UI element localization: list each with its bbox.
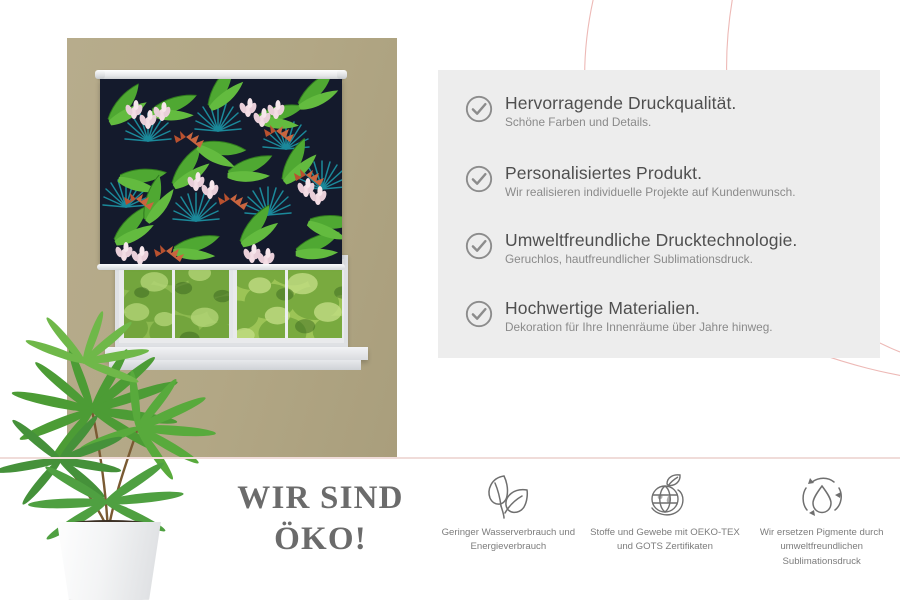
eco-headline-line1: WIR SIND <box>218 478 423 519</box>
two-leaves-icon <box>480 470 536 522</box>
eco-badge: Geringer Wasserverbrauch und Energieverb… <box>430 470 587 590</box>
eco-badges: Geringer Wasserverbrauch und Energieverb… <box>430 470 900 590</box>
check-circle-icon <box>464 299 494 329</box>
feature-subtitle: Wir realisieren individuelle Projekte au… <box>505 186 796 200</box>
blind-rail-cap-left <box>95 70 105 79</box>
globe-leaf-icon <box>637 470 693 522</box>
feature-title: Hervorragende Druckqualität. <box>505 94 736 114</box>
feature-subtitle: Dekoration für Ihre Innenräume über Jahr… <box>505 321 773 335</box>
blind-rail-cap-right <box>337 70 347 79</box>
check-circle-icon <box>464 231 494 261</box>
feature-subtitle: Schöne Farben und Details. <box>505 116 736 130</box>
feature-subtitle: Geruchlos, hautfreundlicher Sublimations… <box>505 253 797 267</box>
feature-title: Umweltfreundliche Drucktechnologie. <box>505 231 797 251</box>
plant-pot <box>50 522 168 600</box>
eco-headline-line2: ÖKO! <box>218 519 423 560</box>
feature-item: Hochwertige Materialien. Dekoration für … <box>464 298 773 334</box>
features-panel: Hervorragende Druckqualität. Schöne Farb… <box>438 70 880 358</box>
feature-item: Umweltfreundliche Drucktechnologie. Geru… <box>464 230 797 266</box>
eco-badge: Stoffe und Gewebe mit OEKO-TEX und GOTS … <box>587 470 744 590</box>
window-divider-right <box>285 264 288 338</box>
check-circle-icon <box>464 94 494 124</box>
eco-badge: Wir ersetzen Pigmente durch umweltfreund… <box>743 470 900 590</box>
eco-headline: WIR SIND ÖKO! <box>218 478 423 560</box>
check-circle-icon <box>464 164 494 194</box>
feature-item: Personalisiertes Produkt. Wir realisiere… <box>464 163 796 199</box>
blind-fabric-tropical-pattern <box>100 79 342 264</box>
window-pane-right <box>237 264 342 338</box>
promo-banner: Hervorragende Druckqualität. Schöne Farb… <box>0 0 900 600</box>
eco-caption: Geringer Wasserverbrauch und Energieverb… <box>433 526 583 555</box>
feature-title: Hochwertige Materialien. <box>505 299 773 319</box>
feature-title: Personalisiertes Produkt. <box>505 164 796 184</box>
section-divider <box>0 457 900 459</box>
feature-item: Hervorragende Druckqualität. Schöne Farb… <box>464 93 736 129</box>
water-drop-recycle-icon <box>794 470 850 522</box>
bamboo-palm-plant <box>0 270 238 600</box>
blind-top-rail <box>97 70 345 79</box>
roller-blind <box>97 70 345 270</box>
eco-caption: Stoffe und Gewebe mit OEKO-TEX und GOTS … <box>590 526 740 555</box>
eco-caption: Wir ersetzen Pigmente durch umweltfreund… <box>747 526 897 569</box>
